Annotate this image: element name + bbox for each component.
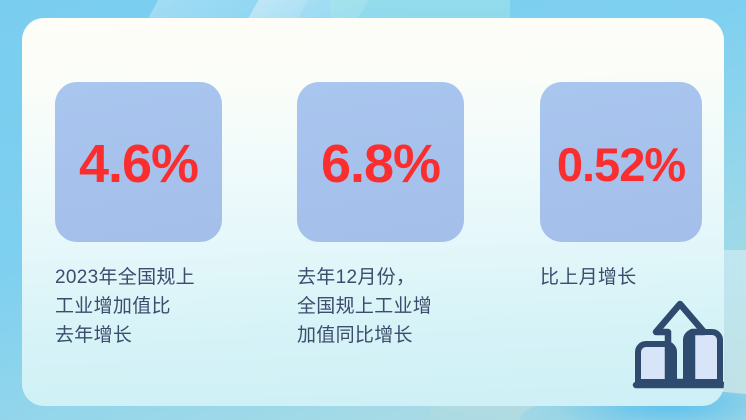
stat-block-2: 6.8% 去年12月份， 全国规上工业增 加值同比增长 bbox=[297, 82, 497, 351]
content-panel: 4.6% 2023年全国规上 工业增加值比 去年增长 6.8% 去年12月份， … bbox=[22, 18, 724, 406]
stat-card-2: 6.8% bbox=[297, 82, 464, 242]
infographic-canvas: 4.6% 2023年全国规上 工业增加值比 去年增长 6.8% 去年12月份， … bbox=[0, 0, 746, 420]
growth-chart-icon bbox=[632, 300, 724, 392]
stat-block-3: 0.52% 比上月增长 bbox=[540, 82, 724, 293]
stats-row: 4.6% 2023年全国规上 工业增加值比 去年增长 6.8% 去年12月份， … bbox=[22, 18, 724, 406]
stat-block-1: 4.6% 2023年全国规上 工业增加值比 去年增长 bbox=[55, 82, 255, 351]
stat-caption-3: 比上月增长 bbox=[540, 264, 724, 293]
stat-value-2: 6.8% bbox=[321, 137, 440, 191]
stat-caption-2: 去年12月份， 全国规上工业增 加值同比增长 bbox=[297, 264, 497, 351]
stat-card-1: 4.6% bbox=[55, 82, 222, 242]
stat-value-3: 0.52% bbox=[557, 141, 685, 188]
stat-caption-1: 2023年全国规上 工业增加值比 去年增长 bbox=[55, 264, 255, 351]
stat-card-3: 0.52% bbox=[540, 82, 702, 242]
stat-value-1: 4.6% bbox=[79, 137, 198, 191]
